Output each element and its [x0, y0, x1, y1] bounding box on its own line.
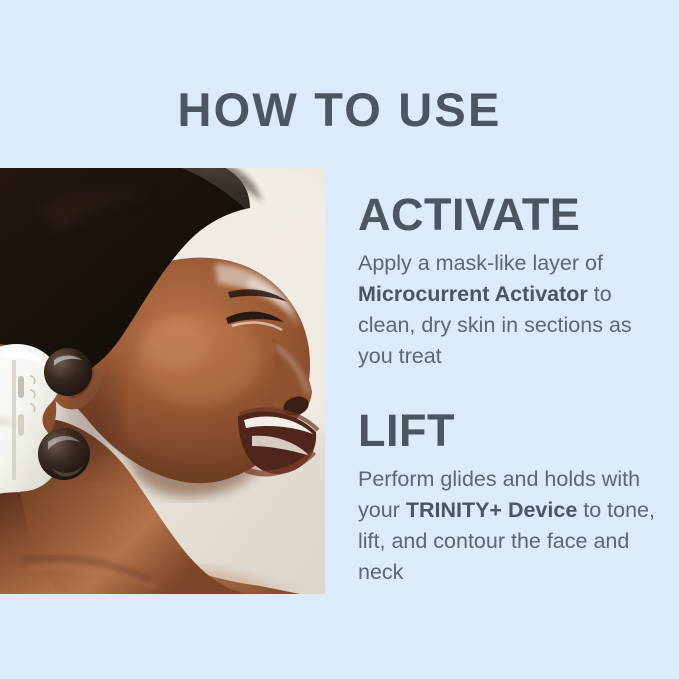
step-lift-heading: LIFT [358, 406, 658, 456]
step-activate-body: Apply a mask-like layer of Microcurrent … [358, 248, 658, 372]
step-activate-heading: ACTIVATE [358, 190, 658, 240]
step-lift-body: Perform glides and holds with your TRINI… [358, 464, 658, 588]
device-seam [12, 360, 16, 480]
product-usage-photo [0, 168, 325, 594]
step-activate: ACTIVATE Apply a mask-like layer of Micr… [358, 190, 658, 372]
page-title: HOW TO USE [0, 83, 679, 137]
step-lift: LIFT Perform glides and holds with your … [358, 406, 658, 588]
device-control [18, 376, 24, 398]
photo-illustration [0, 168, 325, 594]
steps-column: ACTIVATE Apply a mask-like layer of Micr… [358, 190, 658, 588]
how-to-use-infographic: HOW TO USE [0, 0, 679, 679]
